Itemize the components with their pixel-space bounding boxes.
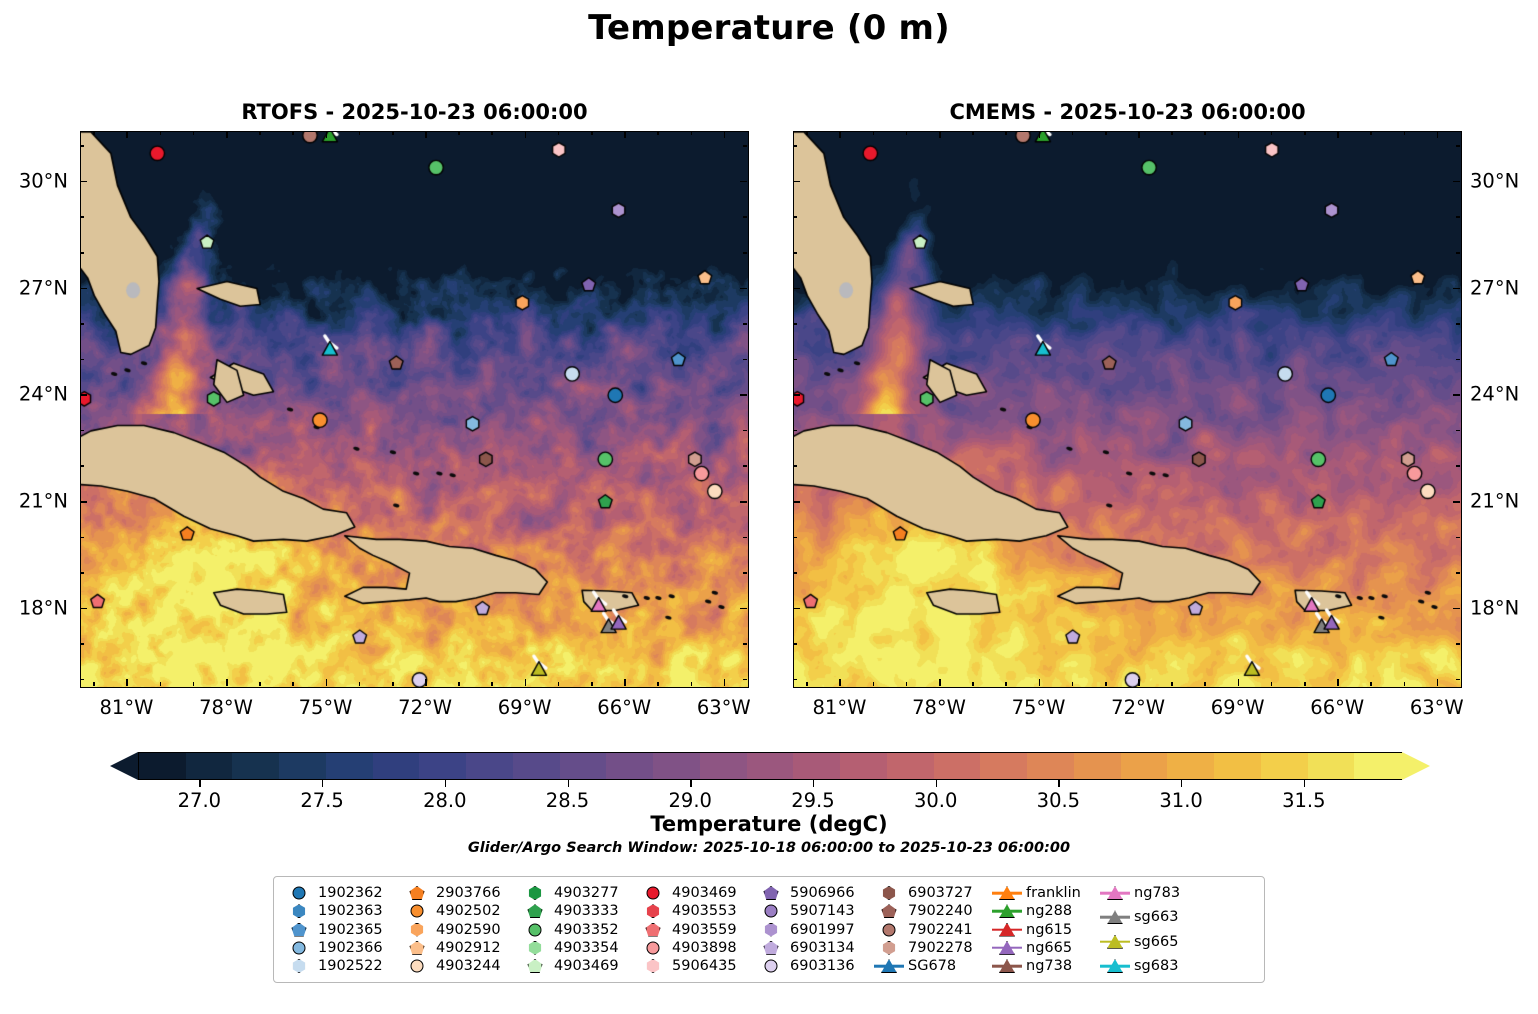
legend-marker-icon [638,884,668,902]
legend-marker-icon [992,902,1022,920]
colorbar-tick [690,780,691,787]
x-tick-label: 78°W [912,696,966,719]
circle-icon [883,923,896,936]
y-tick [80,288,87,290]
hexagon-icon [292,959,306,973]
y-tick [80,252,84,254]
legend-marker-icon [638,921,668,939]
x-tick [691,682,693,686]
pentagon-icon [882,904,897,918]
legend-marker-icon [638,957,668,975]
x-tick [939,131,941,138]
circle-icon [647,941,660,954]
colorbar-segment [840,753,888,779]
x-tick [1105,131,1107,135]
y-tick [1453,608,1460,610]
x-tick-label: 81°W [813,696,867,719]
colorbar-tick [568,780,569,787]
x-tick [806,682,808,686]
map-raster-cmems [794,132,1461,687]
colorbar-tick [445,780,446,787]
legend-item[interactable]: 4903469 [520,957,638,975]
legend-item-label: ng288 [1022,903,1072,919]
y-tick [793,181,800,183]
y-tick [793,643,797,645]
x-tick-label: 63°W [1410,696,1464,719]
x-tick [1370,131,1372,135]
x-tick [425,131,427,138]
legend-marker-icon [1100,957,1130,975]
y-tick [1453,501,1460,503]
legend-item[interactable]: 4902502 [402,902,520,920]
map-raster-rtofs [81,132,748,687]
y-tick [740,181,747,183]
y-tick [740,501,747,503]
x-tick [326,679,328,686]
legend-marker-icon [284,939,314,957]
legend-item-label: 1902362 [314,885,383,901]
legend-item[interactable]: 2903766 [402,884,520,902]
legend-item[interactable]: 4903277 [520,884,638,902]
legend-marker-icon [874,902,904,920]
colorbar-segment [980,753,1028,779]
x-tick [806,131,808,135]
colorbar-segment [419,753,467,779]
legend-item[interactable]: ng738 [992,957,1100,975]
legend-item[interactable]: 6903727 [874,884,992,902]
y-tick-label: 30°N [1470,169,1519,192]
colorbar-segment [887,753,935,779]
x-tick [1337,679,1339,686]
legend-marker-icon [402,884,432,902]
y-tick [743,465,747,467]
colorbar-segment [934,753,982,779]
legend-item[interactable]: franklin [992,884,1100,902]
colorbar-tick-label: 27.5 [300,789,343,812]
y-tick [1456,643,1460,645]
legend-item-label: 5906966 [786,885,855,901]
legend-item[interactable]: 4903898 [638,939,756,957]
legend-item[interactable]: ng288 [992,902,1100,920]
y-tick [743,430,747,432]
x-tick-label: 81°W [100,696,154,719]
x-tick [1138,679,1140,686]
legend-item[interactable]: 1902362 [284,884,402,902]
x-tick-label: 75°W [1012,696,1066,719]
hexagon-icon [646,904,660,918]
legend-item[interactable]: 4903559 [638,921,756,939]
colorbar-segment [186,753,234,779]
legend-marker-icon [992,939,1022,957]
y-tick [80,572,84,574]
y-tick [793,323,797,325]
y-tick [743,252,747,254]
colorbar-tick-label: 29.0 [669,789,712,812]
x-tick [1404,131,1406,135]
x-tick [226,679,228,686]
colorbar-tick [936,780,937,787]
y-tick [80,323,84,325]
legend-item-label: sg665 [1130,934,1178,950]
y-tick [793,537,797,539]
legend-item[interactable]: 4903469 [638,884,756,902]
x-tick [1304,682,1306,686]
x-tick [591,682,593,686]
legend-item-label: 4903469 [550,958,619,974]
x-tick [1304,131,1306,135]
legend-item-label: 1902365 [314,922,383,938]
legend-item-label: 4903559 [668,922,737,938]
circle-icon [293,941,306,954]
x-tick-label: 69°W [498,696,552,719]
y-tick [740,394,747,396]
y-tick [1456,145,1460,147]
legend-column: 49034694903553490355949038985906435 [638,884,756,975]
legend-item[interactable]: 4903352 [520,921,638,939]
legend-item[interactable]: sg683 [1100,957,1200,975]
y-tick [743,145,747,147]
colorbar-segment [232,753,280,779]
y-tick [80,394,87,396]
legend-marker-icon [756,884,786,902]
legend-marker-icon [520,884,550,902]
legend-marker-icon [520,921,550,939]
colorbar-segment [326,753,374,779]
y-tick-label: 21°N [0,490,68,513]
x-tick [1105,682,1107,686]
y-tick [1453,394,1460,396]
colorbar-tick-label: 28.0 [423,789,466,812]
y-tick [793,572,797,574]
legend-marker-icon [992,921,1022,939]
y-tick [1453,181,1460,183]
legend-marker-icon [756,921,786,939]
legend-item[interactable]: 1902365 [284,921,402,939]
legend-marker-icon [284,902,314,920]
y-tick [80,181,87,183]
x-tick [458,131,460,135]
legend-item[interactable]: sg663 [1100,908,1200,926]
x-tick [873,682,875,686]
x-tick [326,131,328,138]
colorbar-segment [466,753,514,779]
x-tick [458,682,460,686]
y-tick [743,216,747,218]
legend-marker-icon [992,884,1022,902]
map-panel-rtofs[interactable] [80,131,749,688]
x-tick [972,682,974,686]
hexagon-icon [410,923,424,937]
legend-item-label: 4902590 [432,922,501,938]
colorbar-tick-label: 30.5 [1037,789,1080,812]
legend-item-label: 7902278 [904,940,973,956]
legend-column: 6903727790224079022417902278SG678 [874,884,992,975]
legend-item-label: SG678 [904,958,956,974]
legend-box[interactable]: 1902362190236319023651902366190252229037… [273,876,1265,983]
legend-item-label: 4902912 [432,940,501,956]
legend-item[interactable]: SG678 [874,957,992,975]
x-tick [624,679,626,686]
x-tick-label: 72°W [1111,696,1165,719]
x-tick [359,682,361,686]
colorbar-tick-label: 31.5 [1282,789,1325,812]
colorbar-tick-label: 29.5 [791,789,834,812]
y-tick [743,359,747,361]
legend-item[interactable]: 1902363 [284,902,402,920]
legend-item-label: 1902366 [314,940,383,956]
legend-item-label: 4903553 [668,903,737,919]
x-tick [657,682,659,686]
hexagon-icon [646,959,660,973]
legend-item[interactable]: 4903244 [402,957,520,975]
legend-column: 29037664902502490259049029124903244 [402,884,520,975]
y-tick [80,608,87,610]
figure-canvas: Temperature (0 m) RTOFS - 2025-10-23 06:… [0,0,1538,1014]
colorbar-segment [747,753,795,779]
legend-item-label: 4903352 [550,922,619,938]
legend-item-label: 1902522 [314,958,383,974]
colorbar-segment [1167,753,1215,779]
pentagon-icon [292,923,307,937]
x-tick [525,131,527,138]
y-tick-label: 24°N [1470,383,1519,406]
legend-item[interactable]: 1902366 [284,939,402,957]
legend-item-label: 5907143 [786,903,855,919]
legend-item[interactable]: 6903136 [756,957,874,975]
pentagon-icon [646,923,661,937]
legend-item[interactable]: 4903553 [638,902,756,920]
legend-marker-icon [402,921,432,939]
x-tick [126,131,128,138]
legend-marker-icon [284,957,314,975]
y-tick-label: 30°N [0,169,68,192]
legend-item[interactable]: 7902241 [874,921,992,939]
y-tick-label: 27°N [0,276,68,299]
legend-item[interactable]: 5906966 [756,884,874,902]
y-tick [1456,430,1460,432]
y-tick [743,679,747,681]
x-tick [160,131,162,135]
x-tick [1039,679,1041,686]
legend-item-label: 6903136 [786,958,855,974]
x-tick [1437,679,1439,686]
legend-marker-icon [756,902,786,920]
x-tick-label: 69°W [1211,696,1265,719]
x-tick [558,131,560,135]
x-tick [359,131,361,135]
y-tick [793,359,797,361]
x-tick [873,131,875,135]
x-tick [906,131,908,135]
x-tick [1138,131,1140,138]
legend-item-label: ng783 [1130,885,1180,901]
x-tick-label: 63°W [697,696,751,719]
y-tick [1456,465,1460,467]
legend-marker-icon [402,939,432,957]
x-tick [491,682,493,686]
y-tick [80,216,84,218]
legend-marker-icon [520,902,550,920]
y-tick [80,679,84,681]
legend-item[interactable]: 4903354 [520,939,638,957]
colorbar-segment [1308,753,1356,779]
legend-item[interactable]: 7902278 [874,939,992,957]
legend-item-label: 4903333 [550,903,619,919]
legend-item-label: 4903898 [668,940,737,956]
y-tick [793,430,797,432]
x-tick [558,682,560,686]
y-tick [1456,323,1460,325]
x-tick [93,682,95,686]
x-tick-label: 66°W [1310,696,1364,719]
hexagon-icon [528,886,542,900]
y-tick [793,216,797,218]
y-tick [80,145,84,147]
y-tick [793,608,800,610]
colorbar[interactable] [110,752,1430,780]
x-tick [292,682,294,686]
circle-icon [765,960,778,973]
legend-marker-icon [756,939,786,957]
y-tick [1456,679,1460,681]
x-tick [193,682,195,686]
legend-marker-icon [874,921,904,939]
legend-marker-icon [1100,884,1130,902]
x-tick [939,679,941,686]
legend-marker-icon [402,902,432,920]
y-tick [793,288,800,290]
y-tick [80,430,84,432]
x-tick-label: 75°W [299,696,353,719]
y-tick [80,643,84,645]
legend-item[interactable]: 5906435 [638,957,756,975]
colorbar-segment [279,753,327,779]
legend-item-label: ng665 [1022,940,1072,956]
legend-item[interactable]: ng615 [992,921,1100,939]
y-tick [793,145,797,147]
x-tick [1271,682,1273,686]
legend-item-label: franklin [1022,885,1081,901]
legend-item[interactable]: 4902590 [402,921,520,939]
colorbar-segment [606,753,654,779]
y-tick-label: 27°N [1470,276,1519,299]
x-tick [691,131,693,135]
hexagon-icon [882,886,896,900]
figure-suptitle: Temperature (0 m) [0,8,1538,48]
x-tick [591,131,593,135]
pentagon-icon [410,941,425,955]
legend-item[interactable]: 7902240 [874,902,992,920]
colorbar-segment [373,753,421,779]
legend-marker-icon [1100,908,1130,926]
x-tick-label: 66°W [597,696,651,719]
map-panel-cmems[interactable] [793,131,1462,688]
legend-item[interactable]: ng783 [1100,884,1200,902]
y-tick [1456,572,1460,574]
legend-column: 49032774903333490335249033544903469 [520,884,638,975]
x-tick [624,131,626,138]
legend-marker-icon [756,957,786,975]
y-tick [793,679,797,681]
pentagon-icon [528,904,543,918]
x-tick [259,682,261,686]
legend-item[interactable]: 6901997 [756,921,874,939]
legend-marker-icon [520,957,550,975]
colorbar-segment [1354,753,1402,779]
x-tick [491,131,493,135]
legend-item-label: 7902241 [904,922,973,938]
pentagon-icon [764,941,779,955]
y-tick [80,465,84,467]
x-tick [392,131,394,135]
colorbar-tick-label: 27.0 [178,789,221,812]
legend-item[interactable]: 1902522 [284,957,402,975]
y-tick-label: 18°N [1470,596,1519,619]
legend-item[interactable]: 4902912 [402,939,520,957]
colorbar-label: Temperature (degC) [0,812,1538,836]
legend-item-label: 5906435 [668,958,737,974]
legend-item[interactable]: 6903134 [756,939,874,957]
legend-column: franklinng288ng615ng665ng738 [992,884,1100,975]
x-tick [972,131,974,135]
x-tick [1437,131,1439,138]
y-tick [743,323,747,325]
legend-item-label: 2903766 [432,885,501,901]
x-tick [839,131,841,138]
legend-marker-icon [1100,933,1130,951]
y-tick [80,537,84,539]
legend-item-label: 4903469 [668,885,737,901]
panel-title-rtofs: RTOFS - 2025-10-23 06:00:00 [80,100,749,124]
colorbar-segment [700,753,748,779]
legend-marker-icon [402,957,432,975]
circle-icon [411,905,424,918]
legend-item-label: 6903727 [904,885,973,901]
x-tick [126,679,128,686]
x-tick [1204,131,1206,135]
x-tick [1171,682,1173,686]
legend-item[interactable]: ng665 [992,939,1100,957]
x-tick [292,131,294,135]
pentagon-icon [410,886,425,900]
colorbar-tick [813,780,814,787]
colorbar-segment [1214,753,1262,779]
legend-item[interactable]: 5907143 [756,902,874,920]
x-tick [839,679,841,686]
x-tick [1171,131,1173,135]
x-tick-label: 78°W [199,696,253,719]
legend-column: 19023621902363190236519023661902522 [284,884,402,975]
y-tick [740,608,747,610]
colorbar-segment [560,753,608,779]
legend-item[interactable]: 4903333 [520,902,638,920]
legend-column: ng783sg663sg665sg683 [1100,884,1200,975]
legend-item-label: 6901997 [786,922,855,938]
legend-item[interactable]: sg665 [1100,933,1200,951]
x-tick [1005,682,1007,686]
x-tick [1271,131,1273,135]
y-tick [743,643,747,645]
x-tick [906,682,908,686]
x-tick [1370,682,1372,686]
x-tick [724,131,726,138]
legend-marker-icon [638,902,668,920]
hexagon-icon [292,904,306,918]
y-tick [1453,288,1460,290]
panel-title-cmems: CMEMS - 2025-10-23 06:00:00 [793,100,1462,124]
x-tick [1404,682,1406,686]
legend-marker-icon [284,884,314,902]
